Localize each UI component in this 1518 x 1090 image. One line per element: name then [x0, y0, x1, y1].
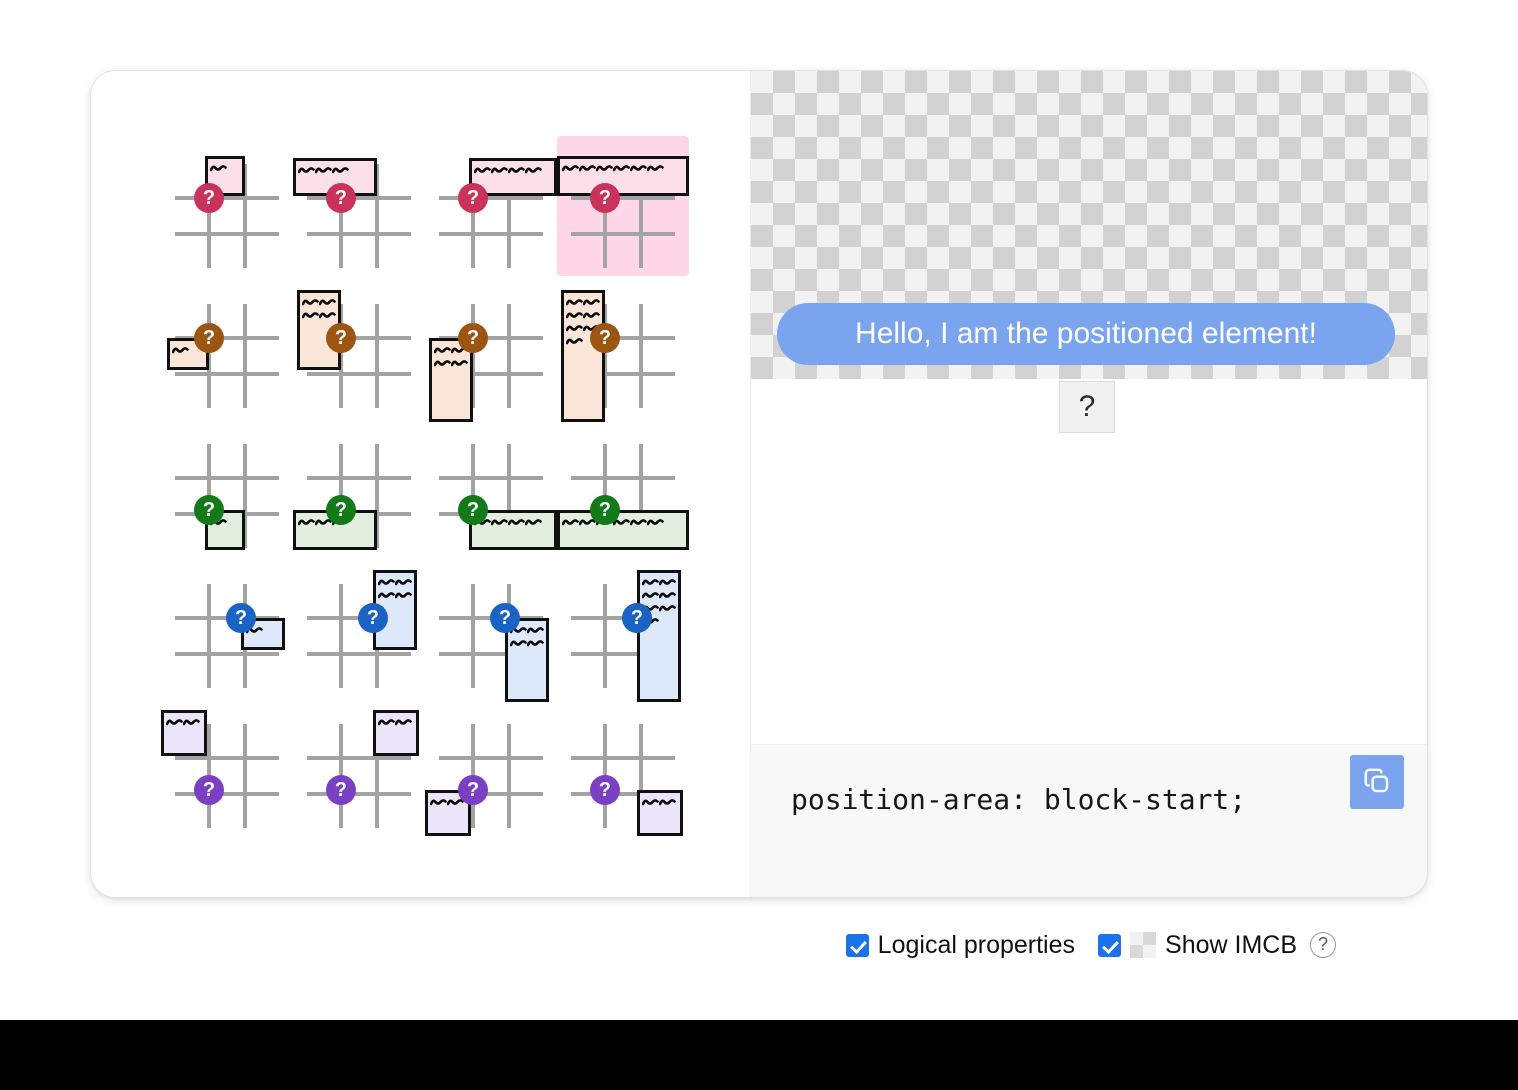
position-area-cell-span-end-block-start[interactable]: ? — [425, 136, 557, 276]
position-area-cell-inline-end[interactable]: ? — [557, 556, 689, 696]
visualizer-card: ? ? ? ? ? ? ? ? ? ? ? ? ? ? ? ? ? ? ? ? … — [90, 70, 1428, 898]
copy-icon — [1362, 766, 1392, 799]
show-imcb-toggle[interactable]: Show IMCB — [1098, 931, 1297, 960]
anchor-dot: ? — [326, 495, 356, 525]
anchor-dot: ? — [590, 495, 620, 525]
anchor-dot: ? — [326, 323, 356, 353]
element-box — [161, 710, 207, 756]
show-imcb-label: Show IMCB — [1165, 931, 1297, 960]
element-box — [561, 290, 605, 422]
anchor-dot: ? — [358, 603, 388, 633]
anchor-dot: ? — [194, 323, 224, 353]
position-area-cell-block-end-inline-start[interactable]: ? — [425, 696, 557, 836]
logical-properties-checkbox[interactable] — [846, 934, 869, 957]
show-imcb-checkbox[interactable] — [1098, 934, 1121, 957]
position-area-cell-inline-start-span-start[interactable]: ? — [161, 276, 293, 416]
anchor-dot: ? — [590, 183, 620, 213]
logical-properties-toggle[interactable]: Logical properties — [846, 931, 1075, 960]
anchor-dot: ? — [458, 495, 488, 525]
anchor-dot: ? — [326, 775, 356, 805]
help-icon[interactable]: ? — [1310, 932, 1336, 958]
anchor-dot: ? — [590, 775, 620, 805]
position-area-cell-inline-start[interactable]: ? — [557, 276, 689, 416]
position-area-cell-block-start-inline-start[interactable]: ? — [161, 696, 293, 836]
bottom-black-band — [0, 1020, 1518, 1090]
position-area-cell-center-block-end[interactable]: ? — [293, 416, 425, 556]
preview-panel: Hello, I am the positioned element! ? po… — [751, 71, 1428, 898]
checkerboard-swatch-icon — [1130, 932, 1156, 958]
position-area-cell-center-block-start[interactable]: ? — [293, 136, 425, 276]
position-area-picker-panel: ? ? ? ? ? ? ? ? ? ? ? ? ? ? ? ? ? ? ? ? — [91, 71, 751, 898]
anchor-dot: ? — [194, 495, 224, 525]
position-area-cell-span-start-block-end[interactable]: ? — [161, 416, 293, 556]
anchor-dot: ? — [326, 183, 356, 213]
copy-button[interactable] — [1350, 755, 1404, 809]
element-box — [373, 710, 419, 756]
anchor-dot: ? — [226, 603, 256, 633]
positioned-element: Hello, I am the positioned element! — [777, 303, 1395, 365]
position-area-grid[interactable]: ? ? ? ? ? ? ? ? ? ? ? ? ? ? ? ? ? ? ? ? — [161, 136, 691, 836]
anchor-dot: ? — [490, 603, 520, 633]
code-output-panel: position-area: block-start; — [751, 744, 1428, 898]
anchor-dot: ? — [194, 183, 224, 213]
anchor-dot: ? — [458, 323, 488, 353]
position-area-cell-inline-end-center[interactable]: ? — [293, 556, 425, 696]
position-area-cell-span-start-block-start[interactable]: ? — [161, 136, 293, 276]
logical-properties-label: Logical properties — [878, 931, 1075, 960]
css-declaration: position-area: block-start; — [791, 783, 1246, 816]
position-area-cell-inline-end-span-start[interactable]: ? — [161, 556, 293, 696]
position-area-cell-inline-start-span-end[interactable]: ? — [425, 276, 557, 416]
footer-controls: Logical properties Show IMCB ? — [0, 920, 1428, 970]
position-area-cell-block-end-inline-end[interactable]: ? — [557, 696, 689, 836]
anchor-dot: ? — [458, 775, 488, 805]
position-area-cell-inline-end-span-end[interactable]: ? — [425, 556, 557, 696]
position-area-cell-block-end[interactable]: ? — [557, 416, 689, 556]
position-area-cell-block-start[interactable]: ? — [557, 136, 689, 276]
anchor-dot: ? — [622, 603, 652, 633]
anchor-dot: ? — [194, 775, 224, 805]
element-box — [637, 570, 681, 702]
position-area-cell-block-start-inline-end[interactable]: ? — [293, 696, 425, 836]
element-box — [557, 510, 689, 550]
element-box — [637, 790, 683, 836]
element-box — [557, 156, 689, 196]
page-root: ? ? ? ? ? ? ? ? ? ? ? ? ? ? ? ? ? ? ? ? … — [0, 0, 1518, 1090]
anchor-element[interactable]: ? — [1059, 381, 1115, 433]
position-area-cell-span-end-block-end[interactable]: ? — [425, 416, 557, 556]
anchor-dot: ? — [458, 183, 488, 213]
position-area-cell-inline-start-center[interactable]: ? — [293, 276, 425, 416]
anchor-dot: ? — [590, 323, 620, 353]
